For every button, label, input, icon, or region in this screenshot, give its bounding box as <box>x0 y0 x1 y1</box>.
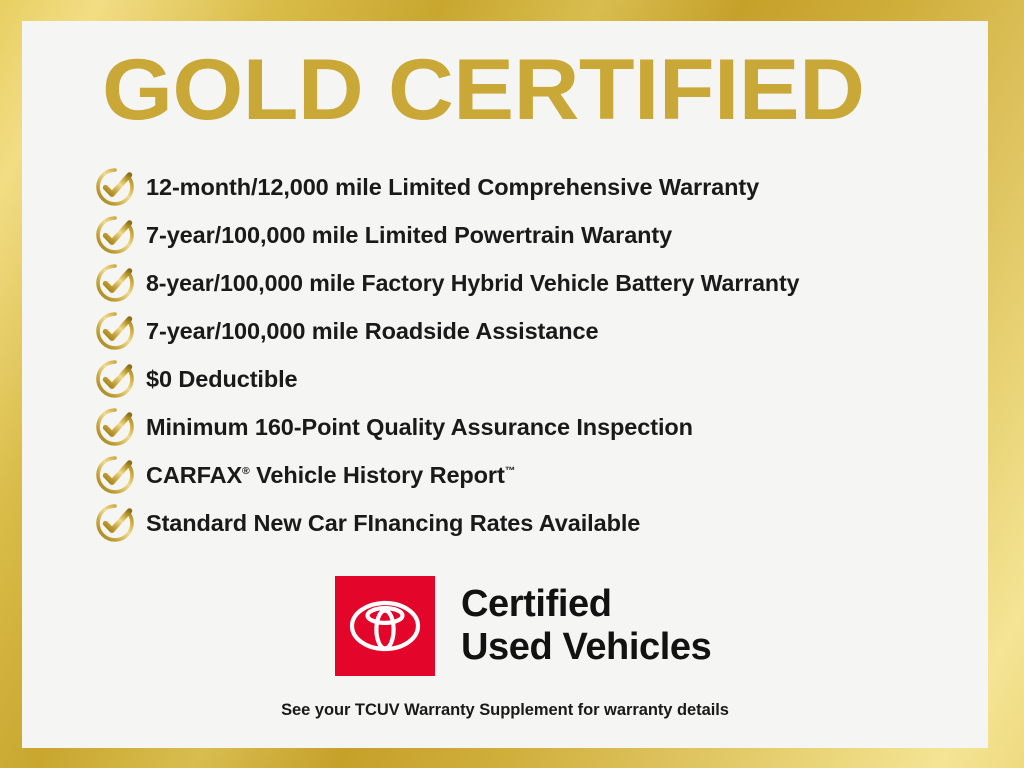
warranty-disclaimer: See your TCUV Warranty Supplement for wa… <box>22 701 988 720</box>
benefit-label: CARFAX® Vehicle History Report™ <box>146 462 515 489</box>
benefit-item: Minimum 160-Point Quality Assurance Insp… <box>94 403 974 451</box>
toyota-certified-used-vehicles-lockup: Certified Used Vehicles <box>335 576 711 676</box>
registered-mark: ® <box>242 465 250 477</box>
benefit-item: CARFAX® Vehicle History Report™ <box>94 451 974 499</box>
benefit-label: 7-year/100,000 mile Roadside Assistance <box>146 318 598 345</box>
gold-check-circle-icon <box>94 310 146 352</box>
lockup-line-2: Used Vehicles <box>461 626 711 669</box>
certificate-panel: GOLD CERTIFIED 12-month/12,000 mile Limi… <box>22 21 988 748</box>
gold-check-circle-icon <box>94 358 146 400</box>
benefit-item: 8-year/100,000 mile Factory Hybrid Vehic… <box>94 259 974 307</box>
benefit-label: 7-year/100,000 mile Limited Powertrain W… <box>146 222 672 249</box>
gold-check-circle-icon <box>94 502 146 544</box>
gold-certified-badge: GOLD CERTIFIED 12-month/12,000 mile Limi… <box>0 0 1024 768</box>
gold-check-circle-icon <box>94 262 146 304</box>
benefit-item: $0 Deductible <box>94 355 974 403</box>
benefit-label: 8-year/100,000 mile Factory Hybrid Vehic… <box>146 270 799 297</box>
toyota-emblem-icon <box>349 600 421 652</box>
benefit-item: 7-year/100,000 mile Roadside Assistance <box>94 307 974 355</box>
benefit-label: 12-month/12,000 mile Limited Comprehensi… <box>146 174 759 201</box>
gold-check-circle-icon <box>94 406 146 448</box>
toyota-logo-tile <box>335 576 435 676</box>
gold-check-circle-icon <box>94 454 146 496</box>
benefit-label: Standard New Car FInancing Rates Availab… <box>146 510 640 537</box>
trademark-mark: ™ <box>505 465 515 477</box>
benefit-label: Minimum 160-Point Quality Assurance Insp… <box>146 414 693 441</box>
benefit-item: 7-year/100,000 mile Limited Powertrain W… <box>94 211 974 259</box>
benefit-item: Standard New Car FInancing Rates Availab… <box>94 499 974 547</box>
lockup-text: Certified Used Vehicles <box>461 583 711 668</box>
gold-check-circle-icon <box>94 166 146 208</box>
benefit-item: 12-month/12,000 mile Limited Comprehensi… <box>94 163 974 211</box>
benefits-list: 12-month/12,000 mile Limited Comprehensi… <box>94 163 974 547</box>
page-title: GOLD CERTIFIED <box>102 47 1014 133</box>
lockup-line-1: Certified <box>461 583 711 626</box>
gold-check-circle-icon <box>94 214 146 256</box>
benefit-label: $0 Deductible <box>146 366 298 393</box>
